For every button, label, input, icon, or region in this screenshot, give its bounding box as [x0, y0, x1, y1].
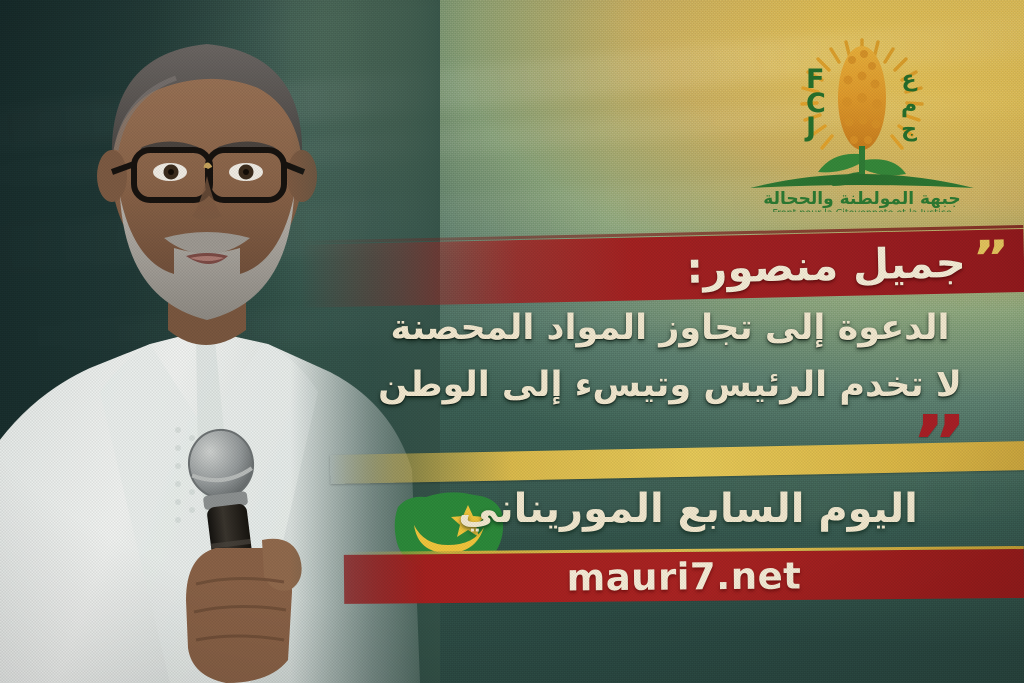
poster-canvas: F C J ع م ج جبهة المولطنة والححالة Front…	[0, 0, 1024, 683]
vignette-overlay	[0, 0, 1024, 683]
